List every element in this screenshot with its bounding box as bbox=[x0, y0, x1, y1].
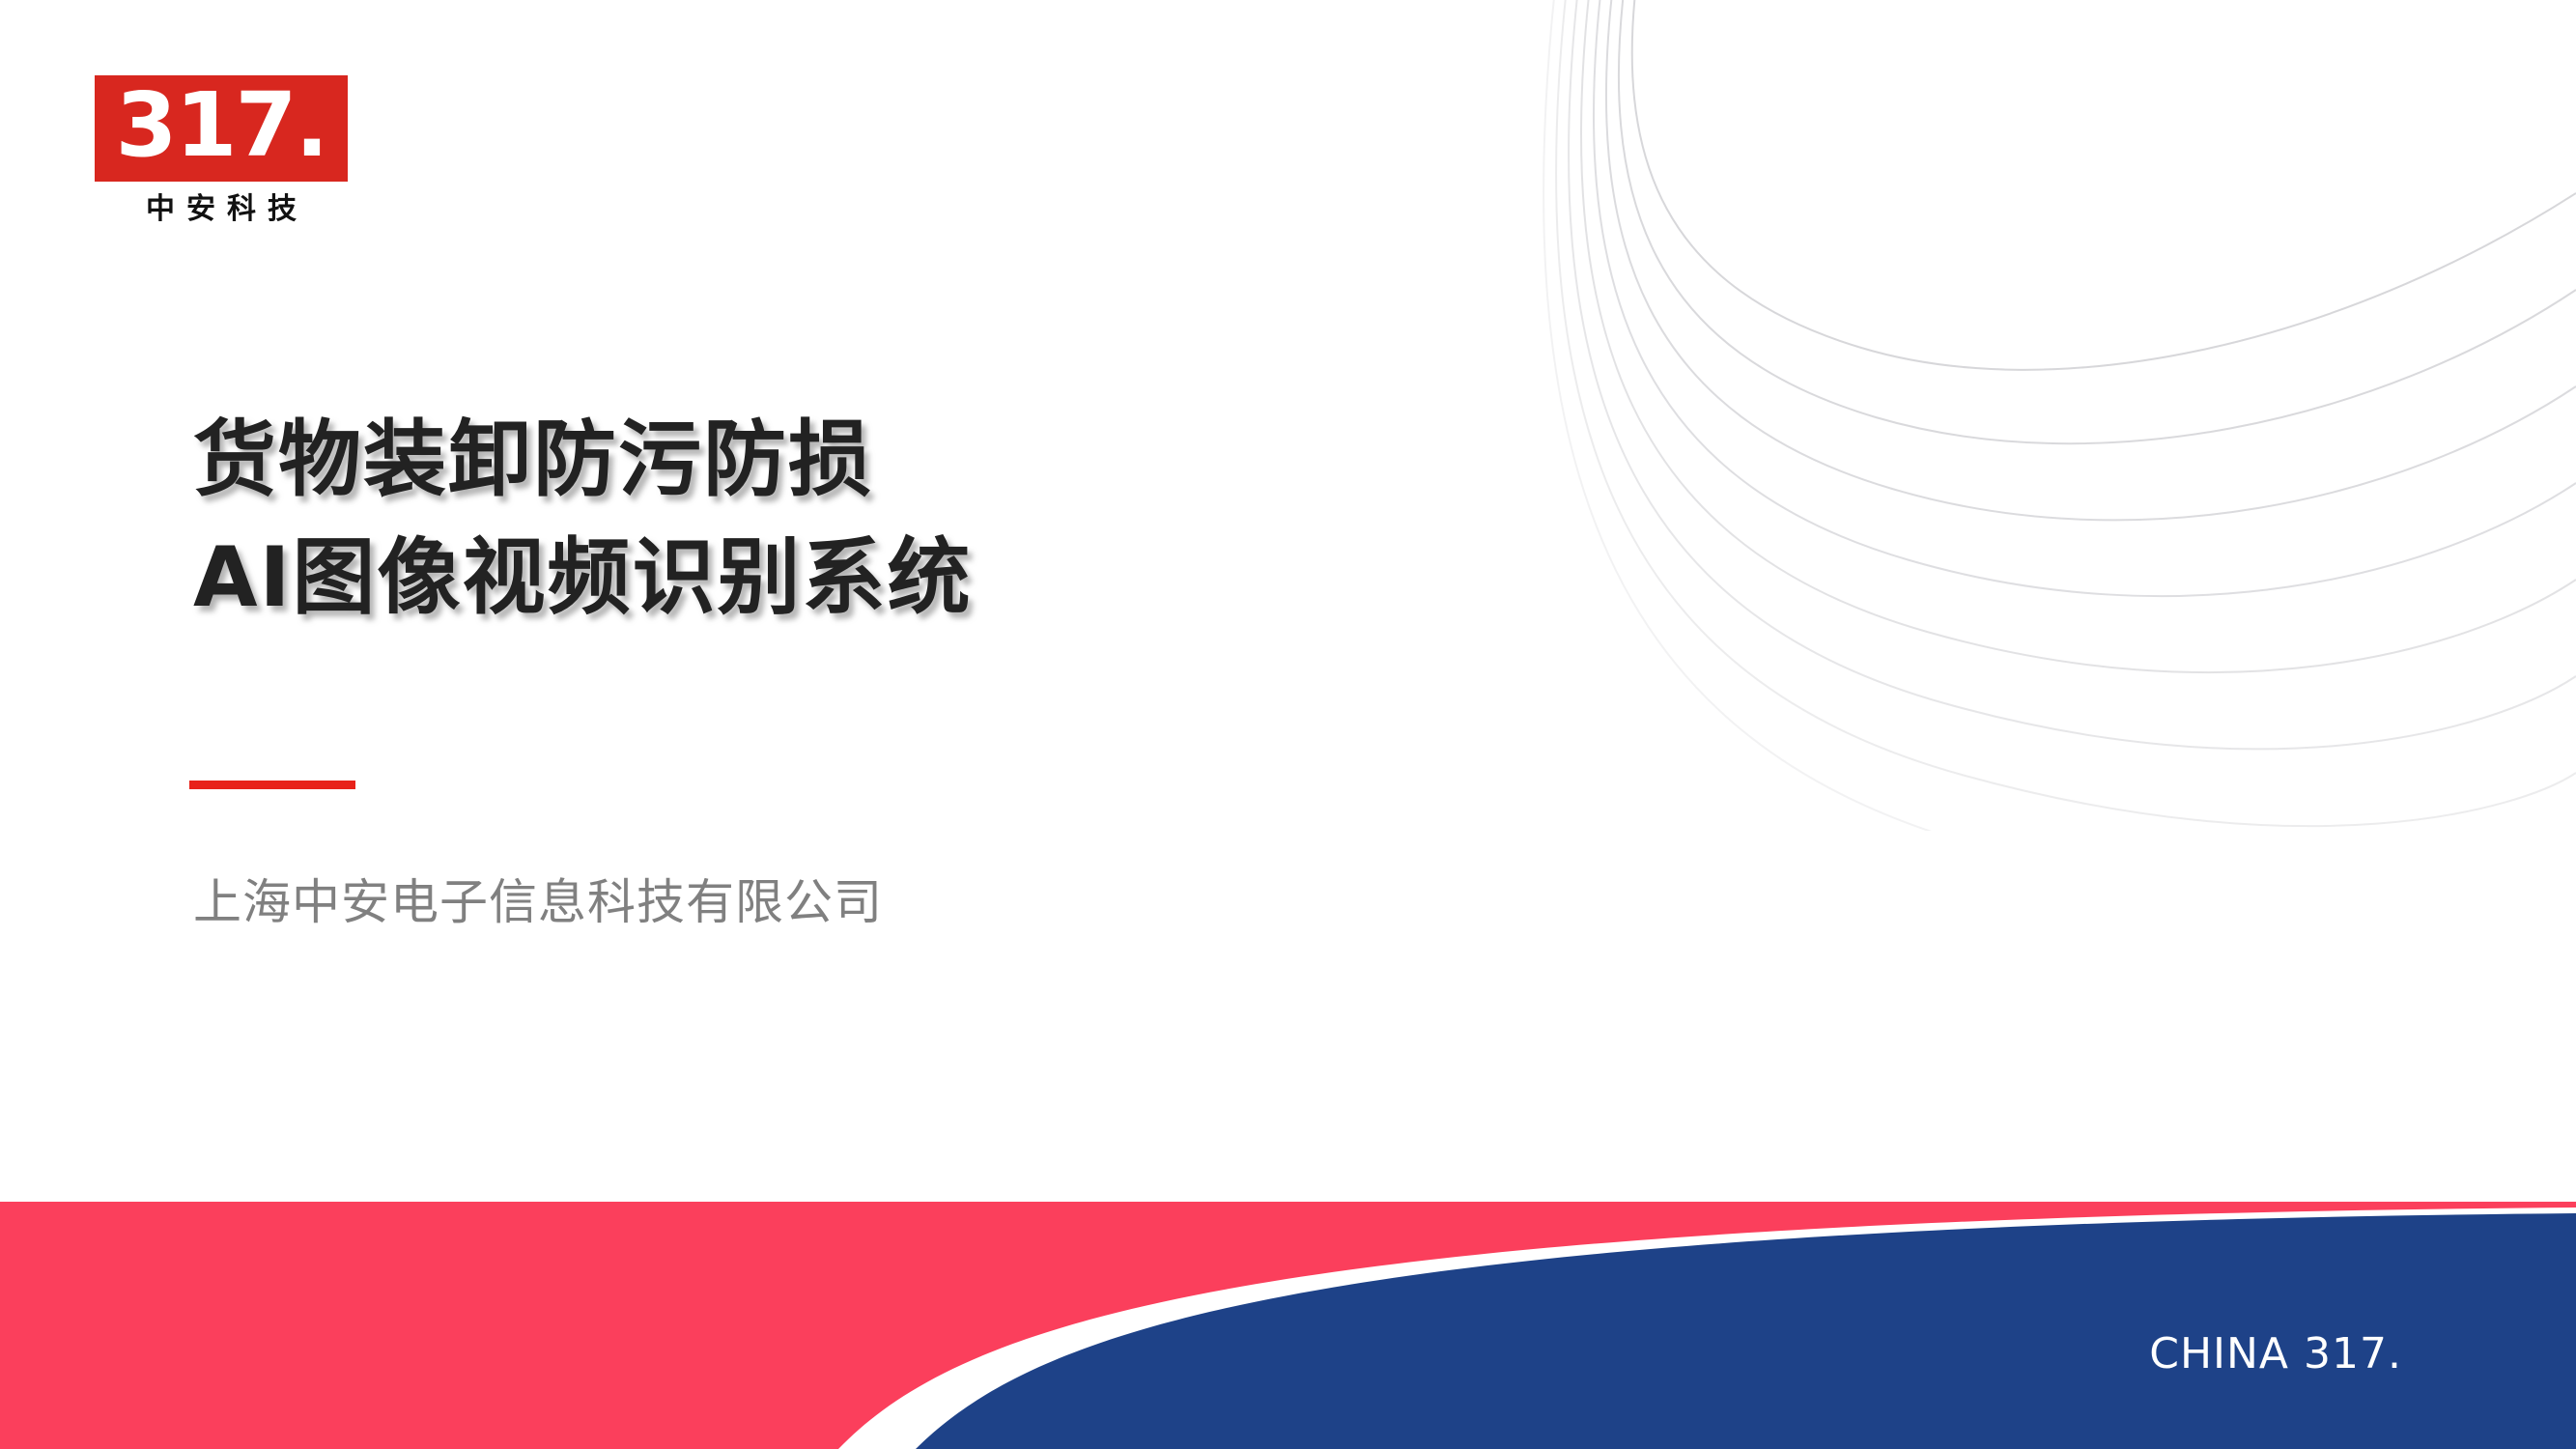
title-line-2: AI图像视频识别系统 bbox=[193, 519, 1449, 637]
logo-company-chinese: 中安科技 bbox=[95, 193, 348, 226]
decorative-curves bbox=[1320, 0, 2576, 831]
brand-logo: 317. 中安科技 bbox=[95, 75, 384, 226]
logo-mark-box: 317. bbox=[95, 75, 348, 182]
logo-mark-text: 317. bbox=[116, 81, 327, 170]
title-divider-rule bbox=[189, 781, 355, 789]
bottom-banner: CHINA 317. bbox=[0, 1202, 2576, 1449]
slide-canvas: 317. 中安科技 货物装卸防污防损 AI图像视频识别系统 上海中安电子信息科技… bbox=[0, 0, 2576, 1449]
subtitle-company-name: 上海中安电子信息科技有限公司 bbox=[193, 867, 883, 937]
footer-brand-text: CHINA 317. bbox=[2149, 1329, 2402, 1379]
title-line-1: 货物装卸防污防损 bbox=[193, 401, 1449, 519]
banner-shapes bbox=[0, 1202, 2576, 1449]
page-title: 货物装卸防污防损 AI图像视频识别系统 bbox=[193, 401, 1449, 637]
